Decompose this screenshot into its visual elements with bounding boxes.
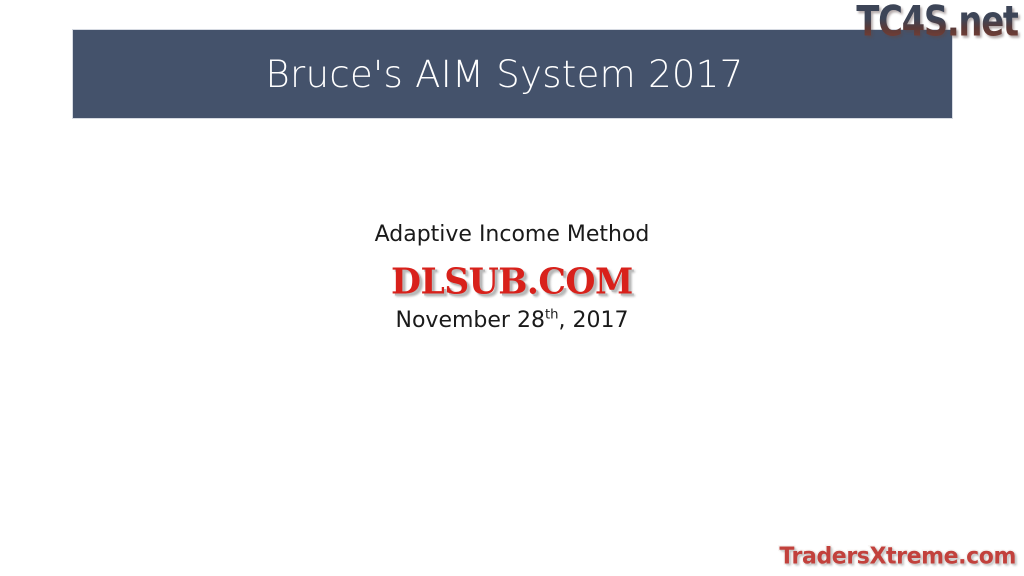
tradersxtreme-watermark: TradersXtreme.com [779, 546, 1016, 568]
slide-title: Bruce's AIM System 2017 [266, 56, 744, 93]
tradersxtreme-watermark-text: TradersXtreme.com [779, 545, 1016, 568]
date-year: , 2017 [558, 308, 628, 333]
date-month-day: November 28 [396, 308, 545, 333]
slide-body-text: Adaptive Income Method November 28th, 20… [0, 222, 1024, 335]
date-ordinal-suffix: th [545, 308, 559, 323]
date-line: November 28th, 2017 [0, 308, 1024, 335]
watermark-spacer [0, 251, 1024, 305]
title-banner: Bruce's AIM System 2017 [72, 29, 953, 119]
subtitle-line: Adaptive Income Method [0, 222, 1024, 249]
presentation-slide: Bruce's AIM System 2017 Adaptive Income … [0, 0, 1024, 576]
